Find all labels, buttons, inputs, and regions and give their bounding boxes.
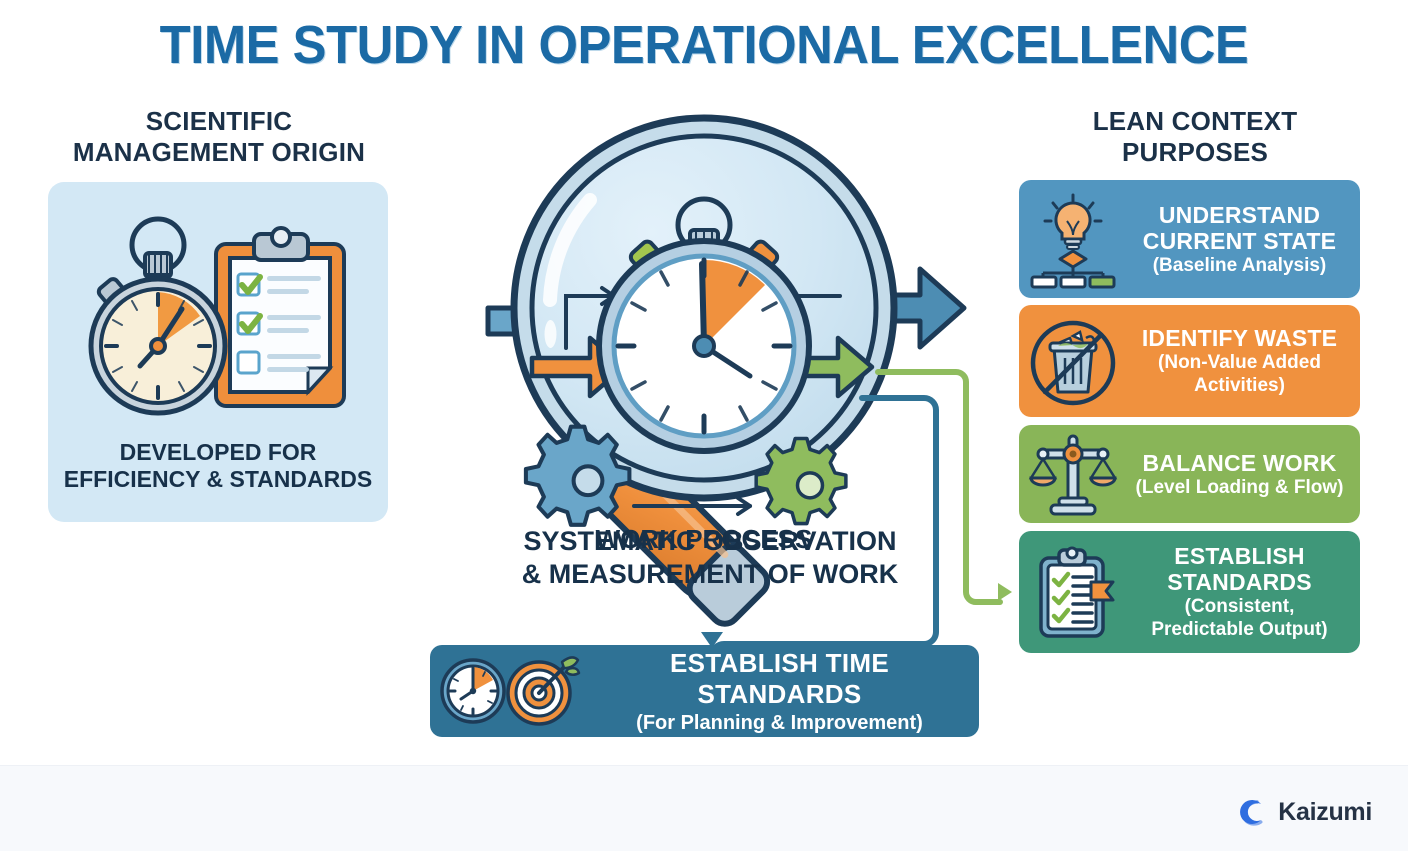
purpose-title-line-1: IDENTIFY WASTE	[1127, 325, 1352, 351]
purpose-title-line-2: CURRENT STATE	[1127, 228, 1352, 254]
left-card-caption: DEVELOPED FOR EFFICIENCY & STANDARDS	[48, 439, 388, 494]
brand-logo[interactable]: Kaizumi	[1235, 795, 1372, 829]
right-heading-line-1: LEAN CONTEXT	[1030, 106, 1360, 137]
purpose-subtitle-line-1: (Consistent,	[1127, 596, 1352, 618]
purpose-panel-text: UNDERSTAND CURRENT STATE (Baseline Analy…	[1127, 202, 1360, 277]
scientific-management-card: DEVELOPED FOR EFFICIENCY & STANDARDS	[48, 182, 388, 522]
purpose-subtitle-line-2: Predictable Output)	[1127, 619, 1352, 641]
center-caption: SYSTEMATIC OBSERVATION & MEASUREMENT OF …	[470, 525, 950, 591]
banner-icon-group	[430, 654, 590, 728]
establish-time-standards-banner[interactable]: ESTABLISH TIME STANDARDS (For Planning &…	[430, 645, 979, 737]
center-caption-line-2: & MEASUREMENT OF WORK	[470, 558, 950, 591]
left-section-heading: SCIENTIFIC MANAGEMENT ORIGIN	[24, 106, 414, 167]
purpose-title-line-1: BALANCE WORK	[1127, 450, 1352, 476]
purpose-panel-text: ESTABLISH STANDARDS (Consistent, Predict…	[1127, 543, 1360, 641]
clock-icon	[442, 660, 504, 722]
clipboard-checklist-icon	[216, 228, 344, 406]
purpose-subtitle-line-1: (Baseline Analysis)	[1127, 255, 1352, 277]
left-heading-line-2: MANAGEMENT ORIGIN	[24, 137, 414, 168]
footer-bar	[0, 765, 1408, 851]
purpose-subtitle-line-1: (Level Loading & Flow)	[1127, 477, 1352, 499]
brand-name: Kaizumi	[1278, 798, 1372, 827]
infographic-canvas: TIME STUDY IN OPERATIONAL EXCELLENCE SCI…	[0, 0, 1408, 851]
purpose-panel-text: IDENTIFY WASTE (Non-Value Added Activiti…	[1127, 325, 1360, 397]
left-caption-line-2: EFFICIENCY & STANDARDS	[48, 466, 388, 494]
center-caption-line-1: SYSTEMATIC OBSERVATION	[470, 525, 950, 558]
no-waste-bin-icon	[1019, 316, 1127, 406]
purpose-panel-understand-current-state[interactable]: UNDERSTAND CURRENT STATE (Baseline Analy…	[1019, 180, 1360, 298]
banner-title: ESTABLISH TIME STANDARDS	[590, 648, 969, 710]
stopwatch-icon	[91, 219, 225, 413]
left-heading-line-1: SCIENTIFIC	[24, 106, 414, 137]
lightbulb-flowchart-icon	[1019, 191, 1127, 287]
purpose-title-line-1: ESTABLISH	[1127, 543, 1352, 569]
banner-text: ESTABLISH TIME STANDARDS (For Planning &…	[590, 648, 979, 735]
left-caption-line-1: DEVELOPED FOR	[48, 439, 388, 467]
right-heading-line-2: PURPOSES	[1030, 137, 1360, 168]
purpose-panel-text: BALANCE WORK (Level Loading & Flow)	[1127, 450, 1360, 499]
purpose-subtitle-line-2: Activities)	[1127, 375, 1352, 397]
purpose-panel-identify-waste[interactable]: IDENTIFY WASTE (Non-Value Added Activiti…	[1019, 305, 1360, 417]
gear-icon	[526, 427, 630, 525]
clipboard-flag-icon	[1019, 544, 1127, 640]
kaizumi-swirl-logo	[1235, 795, 1269, 829]
left-card-icon-group	[48, 212, 388, 422]
purpose-panel-establish-standards[interactable]: ESTABLISH STANDARDS (Consistent, Predict…	[1019, 531, 1360, 653]
purpose-title-line-1: UNDERSTAND	[1127, 202, 1352, 228]
purpose-title-line-2: STANDARDS	[1127, 569, 1352, 595]
purpose-subtitle-line-1: (Non-Value Added	[1127, 352, 1352, 374]
gear-icon	[756, 439, 846, 524]
balance-scale-icon	[1019, 432, 1127, 516]
banner-subtitle: (For Planning & Improvement)	[590, 712, 969, 735]
purpose-panel-balance-work[interactable]: BALANCE WORK (Level Loading & Flow)	[1019, 425, 1360, 523]
right-section-heading: LEAN CONTEXT PURPOSES	[1030, 106, 1360, 167]
page-title: TIME STUDY IN OPERATIONAL EXCELLENCE	[42, 14, 1366, 76]
target-arrow-icon	[508, 657, 579, 724]
